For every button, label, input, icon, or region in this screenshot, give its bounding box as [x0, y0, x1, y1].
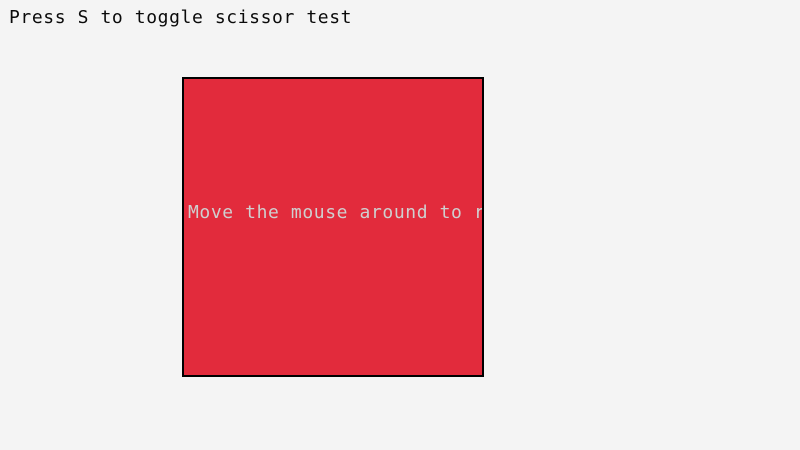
scissor-toggle-hint: Press S to toggle scissor test	[9, 7, 352, 29]
scissor-test-rectangle[interactable]: Move the mouse around to r	[182, 77, 484, 377]
scissor-fill	[184, 79, 482, 375]
demo-canvas: Press S to toggle scissor test Move the …	[0, 0, 800, 450]
scissor-clipped-message: Move the mouse around to r	[188, 202, 484, 224]
